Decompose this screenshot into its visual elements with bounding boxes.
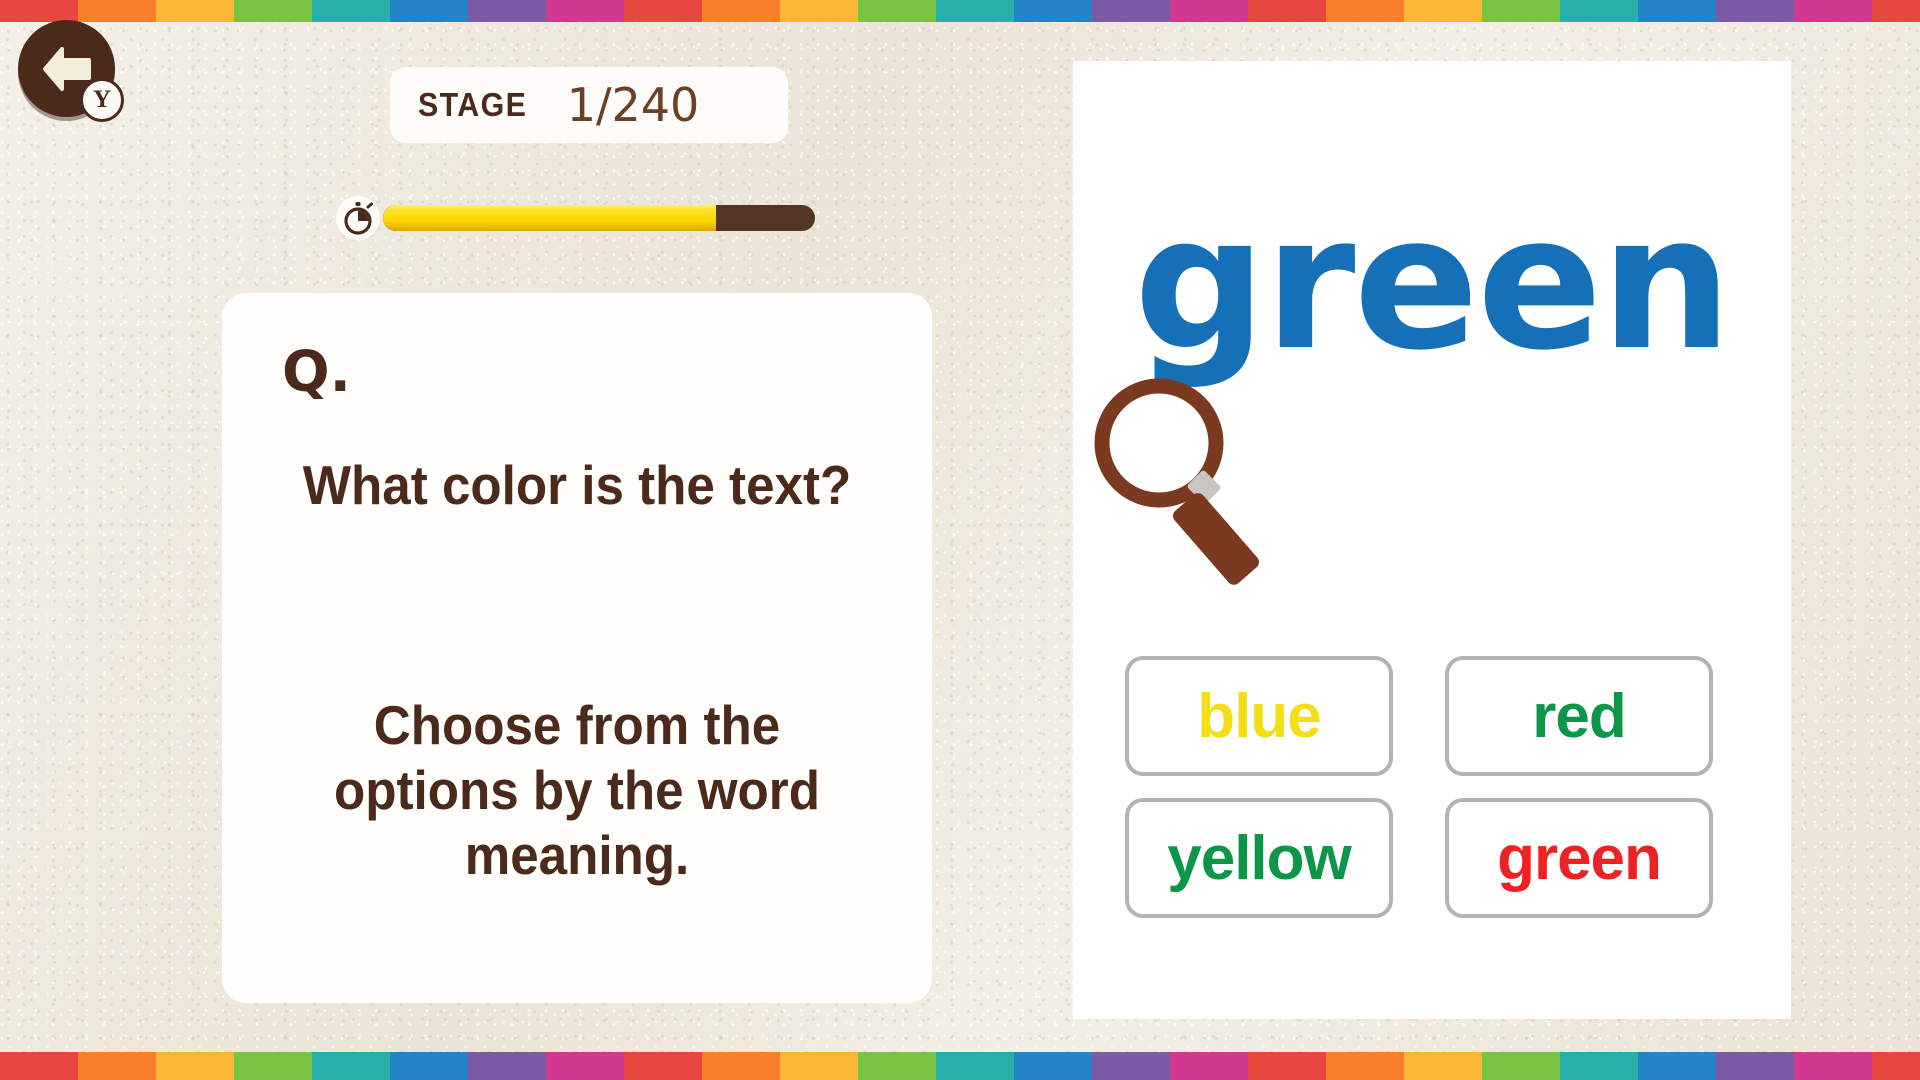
rainbow-block [1014,0,1092,22]
rainbow-block [936,0,1014,22]
y-button-badge[interactable]: Y [80,78,124,122]
question-marker: Q. [282,340,351,405]
top-rainbow-border [0,0,1920,22]
rainbow-block [468,0,546,22]
rainbow-block [1872,0,1920,22]
rainbow-block [936,1052,1014,1080]
rainbow-block [546,1052,624,1080]
rainbow-block [1872,1052,1920,1080]
rainbow-block [1638,1052,1716,1080]
rainbow-block [390,1052,468,1080]
rainbow-block [1014,1052,1092,1080]
rainbow-block [1716,0,1794,22]
rainbow-block [0,1052,78,1080]
rainbow-block [1560,1052,1638,1080]
stopwatch-icon [336,196,380,240]
answer-option-yellow[interactable]: yellow [1125,798,1393,918]
question-instruction: Choose from the options by the word mean… [295,693,859,888]
answer-option-green[interactable]: green [1445,798,1713,918]
rainbow-block [858,1052,936,1080]
stimulus-panel: green blueredyellowgreen [1073,61,1791,1019]
rainbow-block [390,0,468,22]
rainbow-block [0,0,78,22]
rainbow-block [780,1052,858,1080]
rainbow-block [1404,1052,1482,1080]
rainbow-block [546,0,624,22]
rainbow-block [312,0,390,22]
rainbow-block [234,0,312,22]
rainbow-block [1170,0,1248,22]
rainbow-block [858,0,936,22]
question-prompt: What color is the text? [295,453,859,518]
y-badge-label: Y [93,86,111,114]
stage-label: STAGE [418,86,527,124]
rainbow-block [1326,0,1404,22]
rainbow-block [1404,0,1482,22]
game-screen: Y STAGE 1/240 Q. What color is the text?… [0,0,1920,1080]
answer-option-label: red [1532,681,1625,752]
rainbow-block [624,0,702,22]
rainbow-block [702,0,780,22]
rainbow-block [312,1052,390,1080]
timer-bar [336,196,816,240]
rainbow-block [78,0,156,22]
rainbow-block [1248,1052,1326,1080]
rainbow-block [1716,1052,1794,1080]
rainbow-block [702,1052,780,1080]
question-card: Q. What color is the text? Choose from t… [222,293,932,1003]
rainbow-block [1482,0,1560,22]
rainbow-block [156,1052,234,1080]
stage-value: 1/240 [567,78,700,132]
rainbow-block [1092,0,1170,22]
rainbow-block [468,1052,546,1080]
rainbow-block [780,0,858,22]
answer-option-label: green [1497,823,1661,894]
stage-indicator: STAGE 1/240 [390,67,788,143]
rainbow-block [1326,1052,1404,1080]
rainbow-block [1248,0,1326,22]
rainbow-block [624,1052,702,1080]
rainbow-block [1482,1052,1560,1080]
rainbow-block [1794,0,1872,22]
rainbow-block [1560,0,1638,22]
rainbow-block [1170,1052,1248,1080]
rainbow-block [1794,1052,1872,1080]
timer-track[interactable] [383,205,815,231]
bottom-rainbow-border [0,1052,1920,1080]
answer-option-label: blue [1197,681,1320,752]
magnifying-glass-icon [1087,371,1277,601]
answer-option-red[interactable]: red [1445,656,1713,776]
answer-options-grid: blueredyellowgreen [1125,656,1745,918]
rainbow-block [78,1052,156,1080]
answer-option-label: yellow [1167,823,1351,894]
answer-option-blue[interactable]: blue [1125,656,1393,776]
timer-fill [383,205,716,231]
rainbow-block [1638,0,1716,22]
rainbow-block [234,1052,312,1080]
rainbow-block [1092,1052,1170,1080]
stimulus-word: green [1073,191,1791,376]
rainbow-block [156,0,234,22]
